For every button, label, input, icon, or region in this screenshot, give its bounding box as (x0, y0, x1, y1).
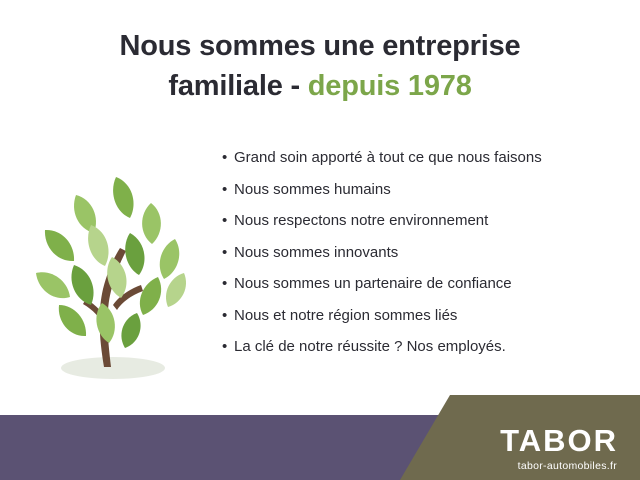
title-line-2-prefix: familiale - (168, 70, 300, 102)
list-item-label: Nous respectons notre environnement (234, 211, 488, 231)
list-item-label: Nous et notre région sommes liés (234, 306, 457, 326)
brand-url: tabor-automobiles.fr (518, 461, 617, 472)
tree-illustration (12, 155, 217, 385)
bullet-list: • Grand soin apporté à tout ce que nous … (222, 148, 622, 369)
brand-logo: TABOR (500, 425, 618, 456)
list-item-label: Grand soin apporté à tout ce que nous fa… (234, 148, 542, 168)
brand-text-part1: TAB (500, 423, 567, 458)
bullet-marker-icon: • (222, 306, 234, 326)
tree-leaves-icon (36, 177, 186, 348)
list-item-label: Nous sommes humains (234, 180, 391, 200)
ground-shadow-icon (61, 357, 165, 379)
list-item-label: Nous sommes innovants (234, 243, 398, 263)
bullet-marker-icon: • (222, 274, 234, 294)
brand-text-part2: O (567, 425, 593, 456)
bullet-marker-icon: • (222, 148, 234, 168)
list-item-label: Nous sommes un partenaire de confiance (234, 274, 512, 294)
title-line-1: Nous sommes une entreprise (120, 30, 521, 62)
title-line-2: familiale - depuis 1978 (0, 66, 640, 106)
page-title: Nous sommes une entreprise familiale - d… (0, 26, 640, 106)
bullet-marker-icon: • (222, 211, 234, 231)
list-item: • Nous respectons notre environnement (222, 211, 622, 231)
list-item: • La clé de notre réussite ? Nos employé… (222, 337, 622, 357)
slide-root: Nous sommes une entreprise familiale - d… (0, 0, 640, 480)
list-item-label: La clé de notre réussite ? Nos employés. (234, 337, 506, 357)
list-item: • Nous sommes humains (222, 180, 622, 200)
list-item: • Nous et notre région sommes liés (222, 306, 622, 326)
title-accent-year: depuis 1978 (308, 70, 472, 102)
list-item: • Nous sommes innovants (222, 243, 622, 263)
list-item: • Grand soin apporté à tout ce que nous … (222, 148, 622, 168)
bullet-marker-icon: • (222, 337, 234, 357)
brand-text-part3: R (594, 423, 618, 458)
list-item: • Nous sommes un partenaire de confiance (222, 274, 622, 294)
footer-band: TABOR tabor-automobiles.fr (0, 415, 640, 480)
bullet-marker-icon: • (222, 180, 234, 200)
bullet-marker-icon: • (222, 243, 234, 263)
